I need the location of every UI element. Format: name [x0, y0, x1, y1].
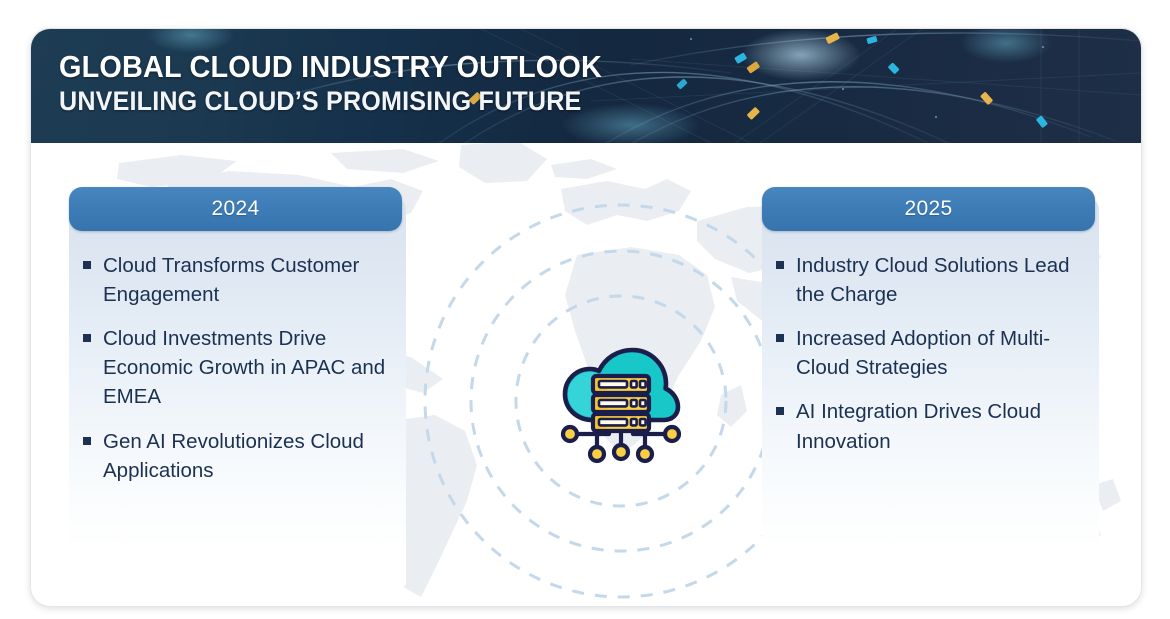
- page-subtitle: UNVEILING CLOUD’S PROMISING FUTURE: [59, 86, 602, 116]
- square-bullet-icon: [776, 334, 784, 342]
- bullet-text: Gen AI Revolutionizes Cloud Applications: [103, 427, 388, 485]
- cloud-server-network-icon: [553, 336, 689, 466]
- year-pill-2025[interactable]: 2025: [762, 187, 1095, 231]
- year-label-2025: 2025: [905, 197, 953, 221]
- bullet-list-2025: Industry Cloud Solutions Lead the Charge…: [776, 251, 1091, 471]
- square-bullet-icon: [776, 261, 784, 269]
- bullet-list-2024: Cloud Transforms Customer Engagement Clo…: [83, 251, 398, 500]
- column-2025: 2025 Industry Cloud Solutions Lead the C…: [762, 187, 1099, 587]
- header-text-block: GLOBAL CLOUD INDUSTRY OUTLOOK UNVEILING …: [59, 50, 643, 117]
- column-2024: 2024 Cloud Transforms Customer Engagemen…: [69, 187, 406, 587]
- bullet-text: Cloud Transforms Customer Engagement: [103, 251, 388, 309]
- bullet-text: AI Integration Drives Cloud Innovation: [796, 397, 1081, 455]
- square-bullet-icon: [83, 437, 91, 445]
- bullet-text: Cloud Investments Drive Economic Growth …: [103, 324, 388, 411]
- square-bullet-icon: [83, 261, 91, 269]
- body-area: 2024 Cloud Transforms Customer Engagemen…: [31, 143, 1141, 606]
- bullet-text: Industry Cloud Solutions Lead the Charge: [796, 251, 1081, 309]
- bullet-text: Increased Adoption of Multi-Cloud Strate…: [796, 324, 1081, 382]
- square-bullet-icon: [83, 334, 91, 342]
- square-bullet-icon: [776, 407, 784, 415]
- list-item: Cloud Transforms Customer Engagement: [83, 251, 398, 309]
- page-title: GLOBAL CLOUD INDUSTRY OUTLOOK: [59, 50, 602, 83]
- content-card: GLOBAL CLOUD INDUSTRY OUTLOOK UNVEILING …: [30, 28, 1142, 607]
- list-item: Cloud Investments Drive Economic Growth …: [83, 324, 398, 411]
- list-item: Increased Adoption of Multi-Cloud Strate…: [776, 324, 1091, 382]
- year-pill-2024[interactable]: 2024: [69, 187, 402, 231]
- header-banner: GLOBAL CLOUD INDUSTRY OUTLOOK UNVEILING …: [31, 29, 1141, 143]
- list-item: Gen AI Revolutionizes Cloud Applications: [83, 427, 398, 485]
- year-label-2024: 2024: [212, 197, 260, 221]
- list-item: Industry Cloud Solutions Lead the Charge: [776, 251, 1091, 309]
- slide-root: GLOBAL CLOUD INDUSTRY OUTLOOK UNVEILING …: [0, 0, 1170, 619]
- list-item: AI Integration Drives Cloud Innovation: [776, 397, 1091, 455]
